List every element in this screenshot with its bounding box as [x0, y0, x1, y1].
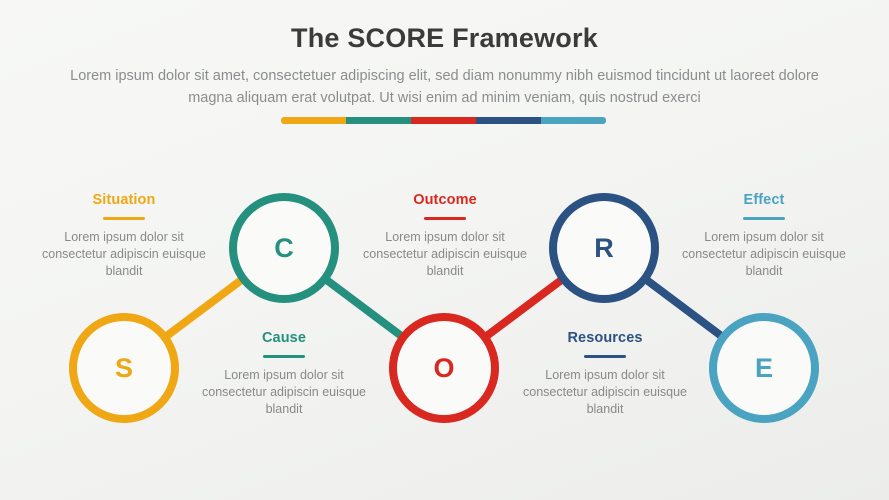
text-block-effect: Effect Lorem ipsum dolor sit consectetur…	[676, 192, 852, 280]
divider-segment-effect	[541, 117, 606, 124]
block-title-resources: Resources	[517, 330, 693, 346]
block-rule-cause	[263, 355, 305, 358]
block-desc-cause: Lorem ipsum dolor sit consectetur adipis…	[196, 367, 372, 418]
divider-segment-situation	[281, 117, 346, 124]
divider-segment-cause	[346, 117, 411, 124]
block-rule-situation	[103, 217, 145, 220]
block-rule-outcome	[424, 217, 466, 220]
block-desc-situation: Lorem ipsum dolor sit consectetur adipis…	[36, 229, 212, 280]
node-s[interactable]: S	[73, 317, 175, 419]
block-title-effect: Effect	[676, 192, 852, 208]
node-r[interactable]: R	[553, 197, 655, 299]
block-desc-resources: Lorem ipsum dolor sit consectetur adipis…	[517, 367, 693, 418]
node-o[interactable]: O	[393, 317, 495, 419]
node-letter-r: R	[594, 233, 614, 263]
header: The SCORE Framework Lorem ipsum dolor si…	[0, 0, 889, 109]
block-rule-resources	[584, 355, 626, 358]
block-rule-effect	[743, 217, 785, 220]
block-desc-effect: Lorem ipsum dolor sit consectetur adipis…	[676, 229, 852, 280]
node-letter-c: C	[274, 233, 294, 263]
text-block-situation: Situation Lorem ipsum dolor sit consecte…	[36, 192, 212, 280]
node-c[interactable]: C	[233, 197, 335, 299]
node-letter-o: O	[433, 353, 454, 383]
text-block-resources: Resources Lorem ipsum dolor sit consecte…	[517, 330, 693, 418]
page-title: The SCORE Framework	[0, 0, 889, 54]
divider-segment-outcome	[411, 117, 476, 124]
node-e[interactable]: E	[713, 317, 815, 419]
block-title-situation: Situation	[36, 192, 212, 208]
divider-segment-resources	[476, 117, 541, 124]
block-title-cause: Cause	[196, 330, 372, 346]
node-letter-s: S	[115, 353, 133, 383]
node-letter-e: E	[755, 353, 773, 383]
block-title-outcome: Outcome	[357, 192, 533, 208]
text-block-outcome: Outcome Lorem ipsum dolor sit consectetu…	[357, 192, 533, 280]
color-divider-bar	[281, 117, 606, 124]
page-subtitle: Lorem ipsum dolor sit amet, consectetuer…	[65, 54, 825, 109]
text-block-cause: Cause Lorem ipsum dolor sit consectetur …	[196, 330, 372, 418]
block-desc-outcome: Lorem ipsum dolor sit consectetur adipis…	[357, 229, 533, 280]
infographic-canvas: The SCORE Framework Lorem ipsum dolor si…	[0, 0, 889, 500]
